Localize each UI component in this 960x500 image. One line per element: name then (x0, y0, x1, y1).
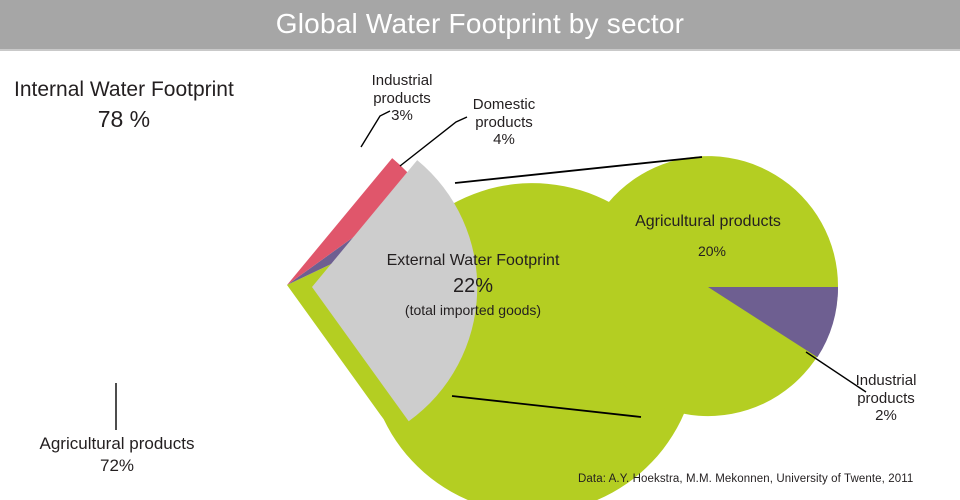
breakout-industrial-name-line1: Industrial (856, 372, 917, 389)
domestic-products-callout: Domestic products 4% (456, 96, 552, 149)
domestic-products-percent: 4% (456, 131, 552, 149)
agricultural-products-name: Agricultural products (40, 434, 195, 453)
external-water-footprint-subtitle: (total imported goods) (363, 302, 583, 319)
breakout-agricultural-percent: 20% (672, 243, 752, 260)
slice2-agricultural-20[interactable] (578, 156, 838, 416)
breakout-agricultural-name: Agricultural products (608, 213, 808, 232)
agricultural-products-percent: 72% (6, 456, 228, 476)
data-source-credit: Data: A.Y. Hoekstra, M.M. Mekonnen, Univ… (578, 473, 913, 487)
breakout-industrial-callout: Industrial products 2% (838, 372, 934, 425)
industrial-products-name-line2: products (373, 90, 431, 107)
pie-chart-graphics (0, 0, 960, 500)
industrial-products-callout: Industrial products 3% (355, 72, 449, 125)
external-water-footprint-title: External Water Footprint (387, 252, 560, 269)
chart-stage: Global Water Footprint by sector (0, 0, 960, 500)
domestic-products-name-line2: products (475, 114, 533, 131)
internal-water-footprint-label: Internal Water Footprint 78 % (14, 78, 234, 133)
domestic-products-name-line1: Domestic (473, 96, 536, 113)
industrial-products-percent: 3% (355, 107, 449, 125)
breakout-industrial-percent: 2% (838, 407, 934, 425)
internal-water-footprint-title: Internal Water Footprint (14, 78, 234, 101)
internal-water-footprint-percent: 78 % (14, 106, 234, 133)
breakout-industrial-name-line2: products (857, 390, 915, 407)
external-water-footprint-percent: 22% (363, 275, 583, 299)
industrial-products-name-line1: Industrial (372, 72, 433, 89)
agricultural-products-label: Agricultural products 72% (6, 434, 228, 476)
external-water-footprint-label: External Water Footprint 22% (total impo… (363, 252, 583, 319)
